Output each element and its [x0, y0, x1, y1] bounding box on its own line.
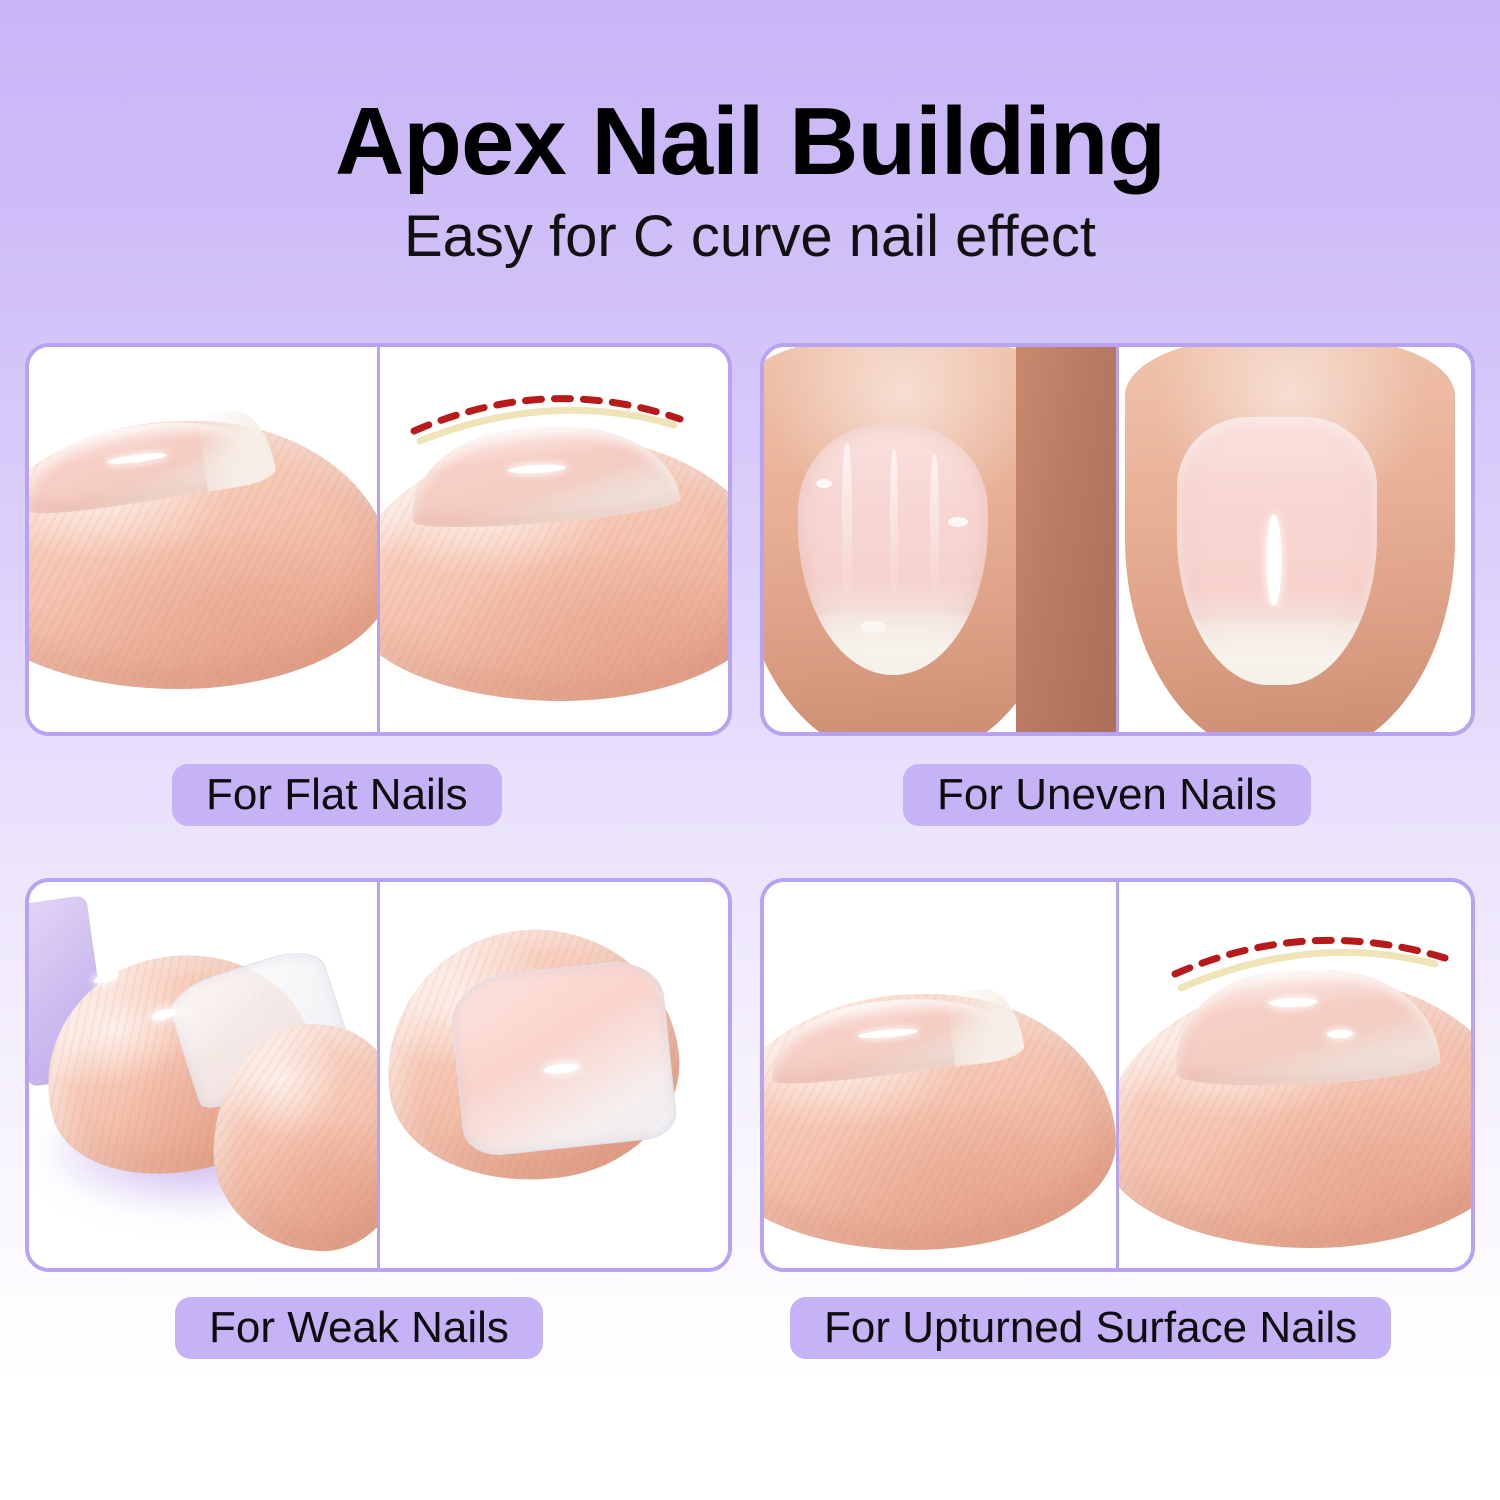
nail-ridge — [842, 443, 852, 613]
infographic-page: Apex Nail Building Easy for C curve nail… — [0, 0, 1500, 1500]
photo-uneven-nail-top-before — [764, 347, 1116, 732]
nail-plate-uneven — [798, 425, 988, 675]
header: Apex Nail Building Easy for C curve nail… — [0, 0, 1500, 300]
panel-upturned-after — [1116, 882, 1471, 1268]
panel-uneven-after — [1116, 347, 1471, 732]
panel-flat-after — [377, 347, 728, 732]
panel-weak-before — [29, 882, 377, 1268]
photo-uneven-nail-top-after — [1119, 347, 1471, 732]
panel-flat-before — [29, 347, 377, 732]
label-upturned-surface-nails: For Upturned Surface Nails — [790, 1297, 1391, 1359]
nail-free-edge — [798, 615, 988, 675]
nail-free-edge — [1177, 621, 1377, 685]
photo-weak-nail-finished — [380, 882, 728, 1268]
page-subtitle: Easy for C curve nail effect — [0, 205, 1500, 269]
photo-flat-nail-side-after — [380, 347, 728, 732]
panel-uneven-before — [764, 347, 1116, 732]
photo-flat-nail-side-before — [29, 347, 377, 732]
background-blur — [1016, 347, 1116, 732]
label-flat-nails: For Flat Nails — [172, 764, 502, 826]
panel-weak-after — [377, 882, 728, 1268]
nail-ridge — [890, 449, 898, 609]
card-weak-nails — [25, 878, 732, 1272]
label-weak-nails: For Weak Nails — [175, 1297, 543, 1359]
panel-upturned-before — [764, 882, 1116, 1268]
page-title: Apex Nail Building — [0, 92, 1500, 193]
nail-flake — [948, 517, 968, 527]
card-upturned-surface-nails — [760, 878, 1475, 1272]
label-uneven-nails: For Uneven Nails — [903, 764, 1311, 826]
built-nail-extension — [447, 957, 679, 1158]
nail-ridge — [930, 455, 939, 605]
photo-weak-nail-tip-applying — [29, 882, 377, 1268]
card-flat-nails — [25, 343, 732, 736]
photo-upturned-nail-side-before — [764, 882, 1116, 1268]
photo-upturned-nail-side-after — [1119, 882, 1471, 1268]
nail-flake — [816, 479, 832, 488]
card-uneven-nails — [760, 343, 1475, 736]
nail-shine-highlight — [1267, 515, 1281, 605]
